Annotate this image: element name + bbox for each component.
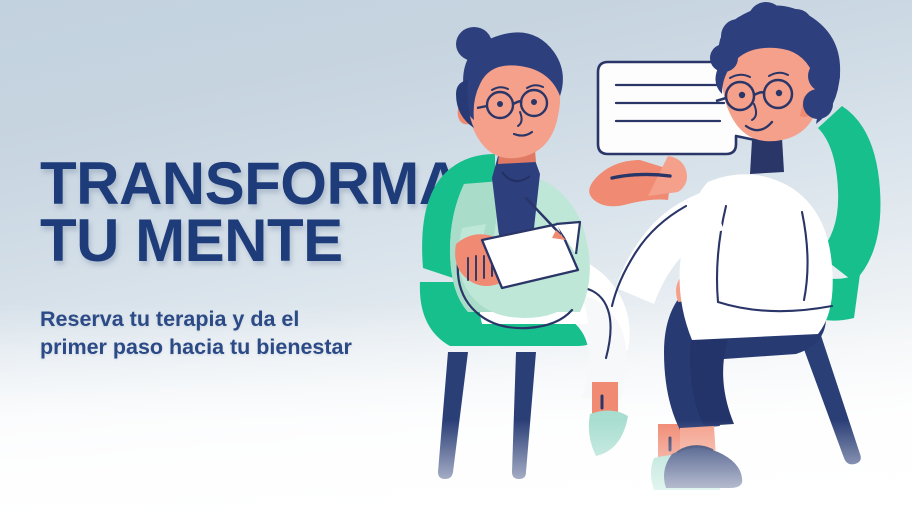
client-eye-right [776,90,782,96]
page-subtitle: Reserva tu terapia y da el primer paso h… [40,306,440,361]
client-eye-left [739,92,745,98]
page-title: TRANSFORMA TU MENTE [40,155,440,269]
therapist-eye-left [497,101,503,107]
floor-fade [390,420,912,513]
promo-banner: TRANSFORMA TU MENTE Reserva tu terapia y… [0,0,912,513]
text-block: TRANSFORMA TU MENTE Reserva tu terapia y… [40,155,440,361]
therapy-session-illustration [390,0,912,513]
therapist-eye-right [531,99,537,105]
client-open-hand [589,156,687,206]
client-neck-shadow [750,138,784,174]
therapist-hair-bun [456,27,492,61]
